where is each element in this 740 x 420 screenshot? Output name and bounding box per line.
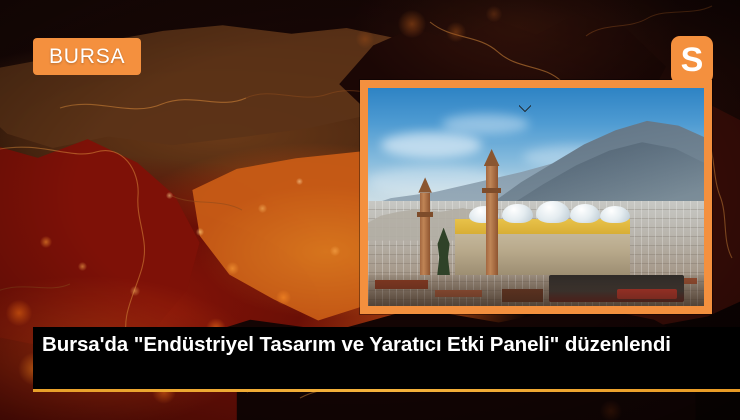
caption-text: Bursa'da "Endüstriyel Tasarım ve Yaratıc… (42, 331, 730, 358)
minaret-right-balcony (482, 188, 501, 193)
caption-underline (33, 389, 740, 392)
cloud (381, 132, 482, 158)
s-logo-icon[interactable]: S (671, 36, 713, 84)
news-card: BURSA S (0, 0, 740, 420)
bird-icon (519, 105, 531, 112)
mosque-dome (502, 204, 532, 224)
foreground-shadow (368, 275, 704, 306)
minaret-left-balcony (417, 212, 433, 216)
caption-bar: Bursa'da "Endüstriyel Tasarım ve Yaratıc… (33, 327, 740, 391)
brand-logo-letter: S (681, 43, 704, 77)
city-badge-label: BURSA (49, 45, 125, 69)
mosque-dome (600, 206, 630, 223)
minaret-left (420, 193, 430, 276)
minaret-right (486, 166, 498, 275)
photo-frame (360, 80, 712, 314)
mosque-dome (536, 201, 570, 223)
cloud (442, 114, 529, 134)
news-photo (368, 88, 704, 306)
city-badge: BURSA (33, 38, 141, 75)
mosque-dome (570, 204, 600, 224)
